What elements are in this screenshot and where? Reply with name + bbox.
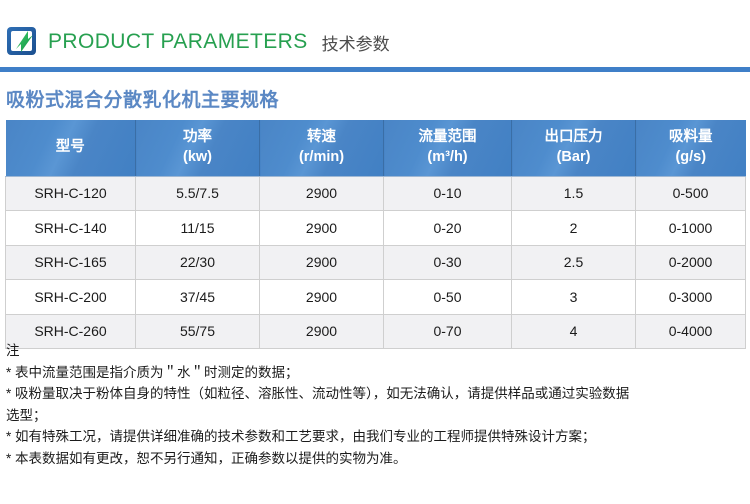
cell-flow: 0-50 <box>384 280 512 315</box>
spec-table-wrapper: 型号 功率 (kw) 转速 (r/min) 流量范围 (m³/h) <box>5 120 745 349</box>
note-line-3: * 如有特殊工况，请提供详细准确的技术参数和工艺要求，由我们专业的工程师提供特殊… <box>6 426 750 448</box>
cell-model: SRH-C-120 <box>6 176 136 211</box>
notes-block: 注 * 表中流量范围是指介质为＂水＂时测定的数据； * 吸粉量取决于粉体自身的特… <box>6 340 750 469</box>
column-header-pressure: 出口压力 (Bar) <box>512 120 636 176</box>
col-flow-line2: (m³/h) <box>386 148 509 168</box>
table-row: SRH-C-165 22/30 2900 0-30 2.5 0-2000 <box>6 245 746 280</box>
section-title-cn: 技术参数 <box>322 30 390 55</box>
cell-pressure: 1.5 <box>512 176 636 211</box>
cell-power: 37/45 <box>136 280 260 315</box>
cell-pressure: 3 <box>512 280 636 315</box>
cell-speed: 2900 <box>260 176 384 211</box>
product-parameters-page: PRODUCT PARAMETERS 技术参数 吸粉式混合分散乳化机主要规格 型… <box>0 0 750 504</box>
col-flow-line1: 流量范围 <box>419 129 477 145</box>
brand-logo-icon <box>6 26 38 57</box>
section-header: PRODUCT PARAMETERS 技术参数 <box>6 26 390 57</box>
cell-model: SRH-C-165 <box>6 245 136 280</box>
cell-suction: 0-500 <box>636 176 746 211</box>
col-power-line2: (kw) <box>138 148 257 168</box>
note-line-2: * 吸粉量取决于粉体自身的特性（如粒径、溶胀性、流动性等），如无法确认，请提供样… <box>6 383 750 405</box>
cell-suction: 0-2000 <box>636 245 746 280</box>
column-header-speed: 转速 (r/min) <box>260 120 384 176</box>
cell-flow: 0-30 <box>384 245 512 280</box>
spec-table-head: 型号 功率 (kw) 转速 (r/min) 流量范围 (m³/h) <box>6 120 746 176</box>
col-pressure-line1: 出口压力 <box>545 129 603 145</box>
spec-table: 型号 功率 (kw) 转速 (r/min) 流量范围 (m³/h) <box>5 120 746 349</box>
cell-power: 5.5/7.5 <box>136 176 260 211</box>
col-speed-line2: (r/min) <box>262 148 381 168</box>
cell-pressure: 2.5 <box>512 245 636 280</box>
column-header-power: 功率 (kw) <box>136 120 260 176</box>
col-suction-line2: (g/s) <box>638 148 744 168</box>
section-title-en: PRODUCT PARAMETERS <box>48 30 308 54</box>
cell-speed: 2900 <box>260 280 384 315</box>
cell-flow: 0-10 <box>384 176 512 211</box>
table-row: SRH-C-120 5.5/7.5 2900 0-10 1.5 0-500 <box>6 176 746 211</box>
column-header-model: 型号 <box>6 120 136 176</box>
cell-speed: 2900 <box>260 245 384 280</box>
header-divider <box>0 67 750 72</box>
cell-power: 22/30 <box>136 245 260 280</box>
notes-heading: 注 <box>6 340 750 362</box>
note-line-2-cont: 选型； <box>6 405 750 427</box>
note-line-4: * 本表数据如有更改，恕不另行通知，正确参数以提供的实物为准。 <box>6 448 750 470</box>
page-title: 吸粉式混合分散乳化机主要规格 <box>6 85 279 112</box>
table-header-row: 型号 功率 (kw) 转速 (r/min) 流量范围 (m³/h) <box>6 120 746 176</box>
col-speed-line1: 转速 <box>307 129 336 145</box>
cell-model: SRH-C-140 <box>6 211 136 246</box>
table-row: SRH-C-200 37/45 2900 0-50 3 0-3000 <box>6 280 746 315</box>
note-line-1: * 表中流量范围是指介质为＂水＂时测定的数据； <box>6 362 750 384</box>
col-pressure-line2: (Bar) <box>514 148 633 168</box>
cell-power: 11/15 <box>136 211 260 246</box>
spec-table-body: SRH-C-120 5.5/7.5 2900 0-10 1.5 0-500 SR… <box>6 176 746 349</box>
col-power-line1: 功率 <box>183 129 212 145</box>
column-header-suction: 吸料量 (g/s) <box>636 120 746 176</box>
cell-speed: 2900 <box>260 211 384 246</box>
cell-suction: 0-3000 <box>636 280 746 315</box>
col-model-line1: 型号 <box>56 139 85 155</box>
cell-pressure: 2 <box>512 211 636 246</box>
table-row: SRH-C-140 11/15 2900 0-20 2 0-1000 <box>6 211 746 246</box>
cell-flow: 0-20 <box>384 211 512 246</box>
cell-model: SRH-C-200 <box>6 280 136 315</box>
column-header-flow: 流量范围 (m³/h) <box>384 120 512 176</box>
col-suction-line1: 吸料量 <box>669 129 713 145</box>
cell-suction: 0-1000 <box>636 211 746 246</box>
